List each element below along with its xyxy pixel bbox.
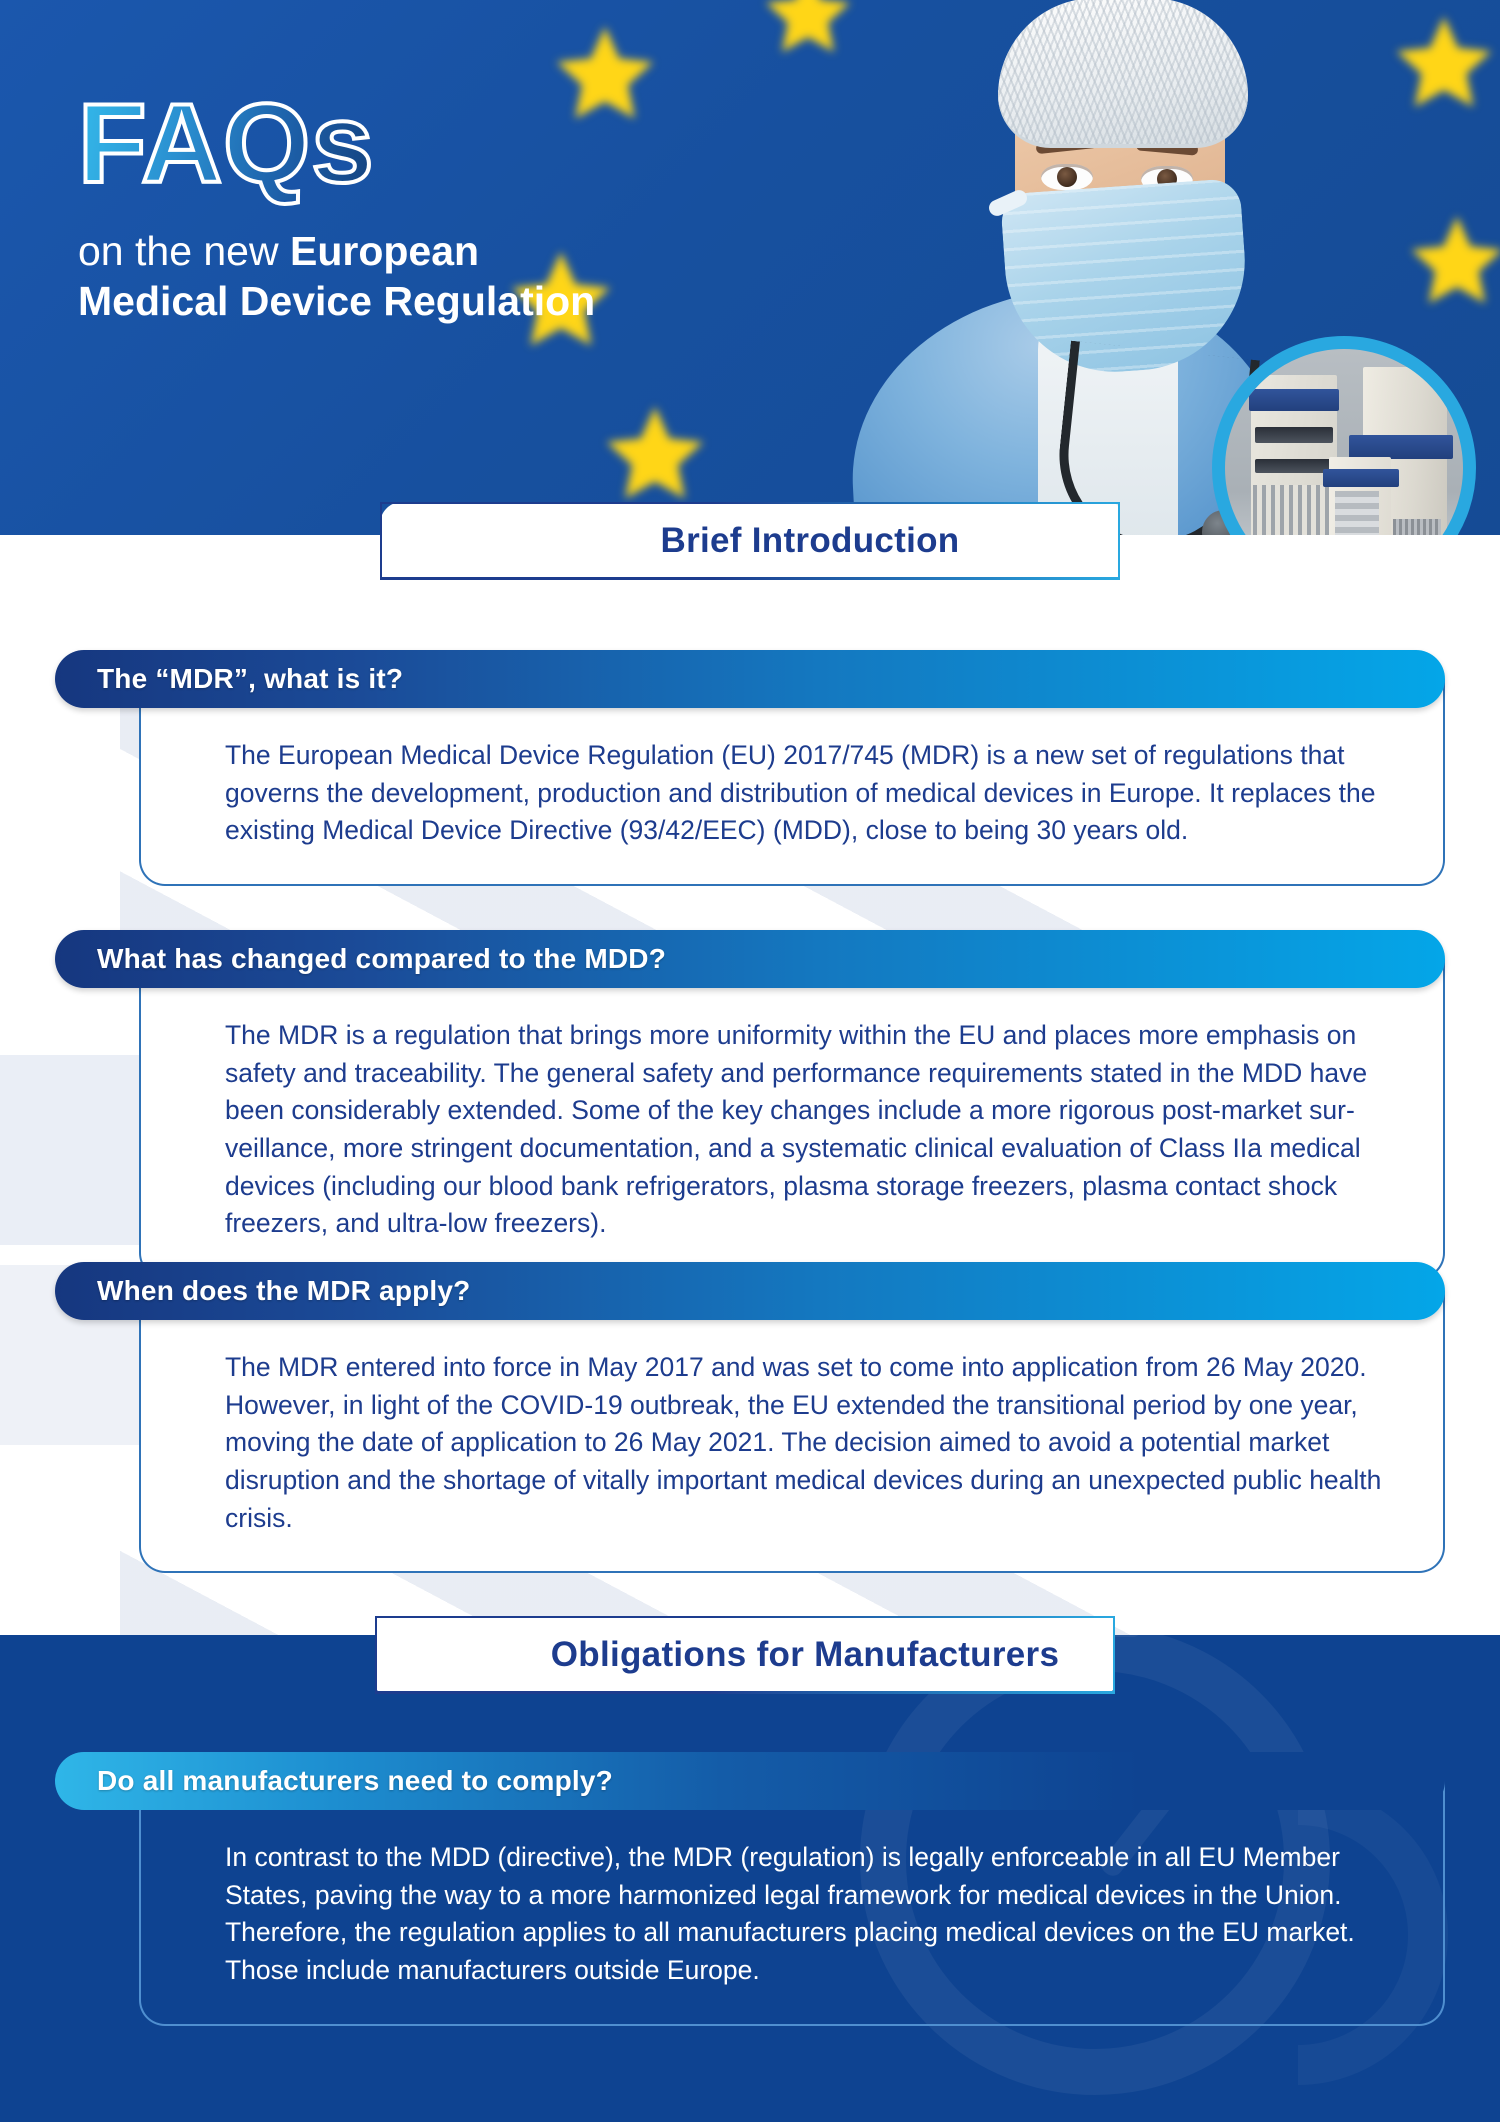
section-tab-obligations[interactable]: Obligations for Manufacturers	[375, 1616, 1115, 1694]
faq-answer-panel: The MDR entered into force in May 2017 a…	[139, 1291, 1445, 1573]
product-unit-drawer	[1255, 459, 1333, 473]
header-title-block: FAQs on the new European Medical Device …	[78, 88, 838, 326]
faq-question-bar[interactable]: When does the MDR apply?	[55, 1262, 1445, 1320]
faq-card[interactable]: Do all manufacturers need to comply? In …	[55, 1752, 1445, 2026]
subtitle-bold-part: European	[290, 228, 479, 274]
faq-card[interactable]: What has changed compared to the MDD? Th…	[55, 930, 1445, 1279]
product-unit-panel	[1349, 435, 1453, 459]
infographic-page: FAQs on the new European Medical Device …	[0, 0, 1500, 2122]
product-unit-vent	[1393, 519, 1441, 535]
faq-question-text: Do all manufacturers need to comply?	[97, 1765, 613, 1797]
faq-question-bar[interactable]: The “MDR”, what is it?	[55, 650, 1445, 708]
faq-question-bar[interactable]: Do all manufacturers need to comply?	[55, 1752, 1445, 1810]
product-unit-panel	[1323, 469, 1399, 487]
page-title: FAQs	[78, 88, 375, 200]
faq-question-text: When does the MDR apply?	[97, 1275, 470, 1307]
product-unit-door	[1335, 491, 1379, 535]
faq-answer-panel: The MDR is a regulation that brings more…	[139, 959, 1445, 1279]
section-tab-label: Obligations for Manufacturers	[431, 1635, 1059, 1675]
faq-answer-text: The MDR entered into force in May 2017 a…	[225, 1349, 1383, 1537]
faq-card[interactable]: The “MDR”, what is it? The European Medi…	[55, 650, 1445, 886]
section-tab-label: Brief Introduction	[541, 521, 960, 561]
faq-answer-text: The European Medical Device Regulation (…	[225, 737, 1383, 850]
surgical-cap	[998, 0, 1248, 148]
faq-answer-text: The MDR is a regulation that brings more…	[225, 1017, 1383, 1243]
header-subtitle-line2: Medical Device Regulation	[78, 276, 838, 326]
product-unit-panel	[1249, 389, 1339, 411]
faq-answer-panel: In contrast to the MDD (directive), the …	[139, 1781, 1445, 2026]
faq-question-text: The “MDR”, what is it?	[97, 663, 403, 695]
faq-question-bar[interactable]: What has changed compared to the MDD?	[55, 930, 1445, 988]
product-unit-drawer	[1255, 427, 1333, 443]
product-unit-grill	[1253, 485, 1335, 535]
faq-card[interactable]: When does the MDR apply? The MDR entered…	[55, 1262, 1445, 1573]
faq-answer-text: In contrast to the MDD (directive), the …	[225, 1839, 1383, 1990]
subtitle-light-part: on the new	[78, 228, 290, 274]
faq-answer-panel: The European Medical Device Regulation (…	[139, 679, 1445, 886]
section-tab-brief-introduction[interactable]: Brief Introduction	[380, 502, 1120, 580]
header-subtitle-line1: on the new European	[78, 226, 838, 276]
nurse-eye	[1041, 164, 1093, 190]
faq-question-text: What has changed compared to the MDD?	[97, 943, 666, 975]
header-banner: FAQs on the new European Medical Device …	[0, 0, 1500, 535]
